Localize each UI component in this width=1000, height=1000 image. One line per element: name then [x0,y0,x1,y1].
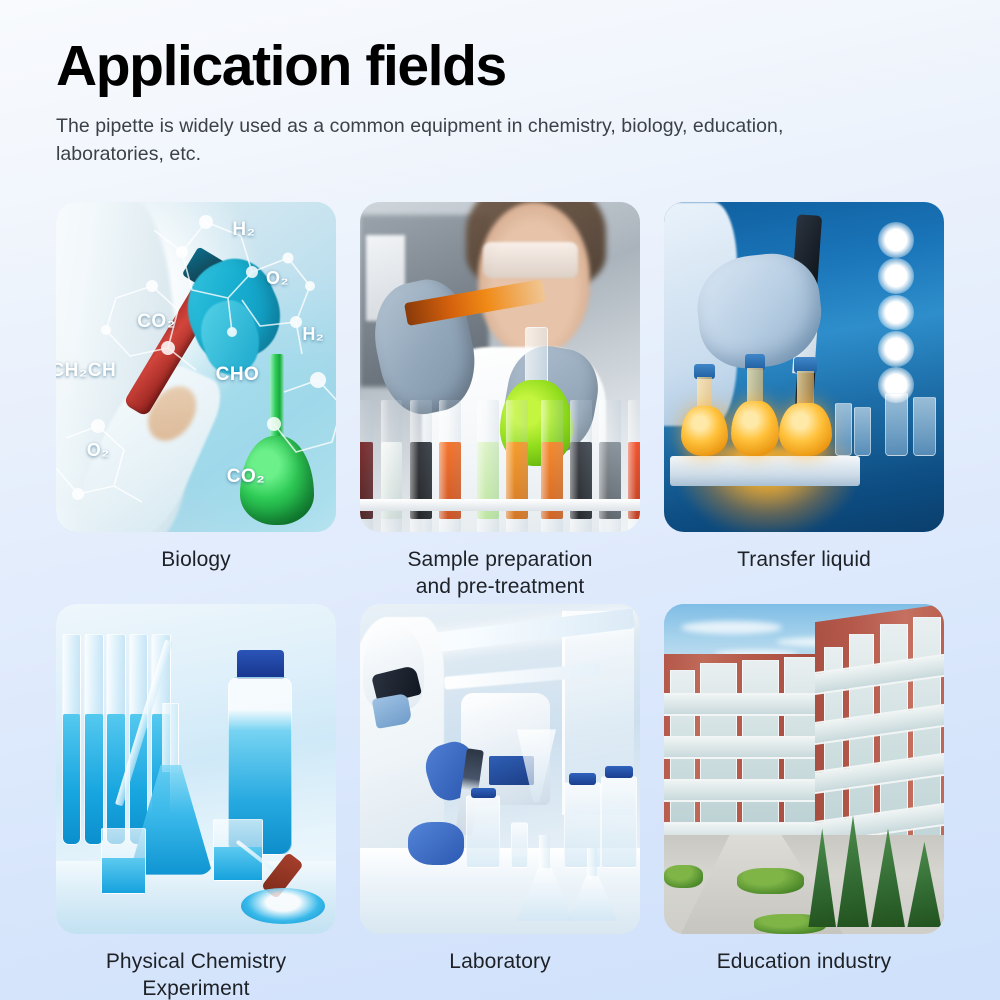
conical-flask-icon [517,835,573,921]
caption-line-1: Physical Chemistry [106,950,286,973]
test-tube-rack [360,400,640,532]
overlay-label-cho: CHO [216,364,260,386]
gallery-card-education-industry[interactable]: Education industry [664,604,944,1000]
caption-physical-chemistry-experiment: Physical Chemistry Experiment [56,949,336,1000]
sample-preparation-image[interactable] [360,202,640,532]
amber-flask-icon [681,364,729,456]
overlay-label-ch2ch: CH₂CH [56,360,116,382]
petri-dish-icon [241,888,325,924]
amber-flask-icon [731,354,779,456]
hedge-icon [737,868,804,894]
caption-biology: Biology [56,547,336,574]
gallery-card-physical-chemistry-experiment[interactable]: Physical Chemistry Experiment [56,604,336,1000]
page-header: Application fields The pipette is widely… [0,0,1000,169]
transfer-liquid-image[interactable] [664,202,944,532]
gallery-row-1: H₂ O₂ CO₂ CHO CH₂CH H₂ O₂ CO₂ Biology [56,202,944,601]
reagent-bottle-icon [466,795,500,868]
light-panel-icon [866,222,928,413]
gallery-card-biology[interactable]: H₂ O₂ CO₂ CHO CH₂CH H₂ O₂ CO₂ Biology [56,202,336,601]
amber-flask-icon [779,357,832,456]
overlay-label-o2-top: O₂ [266,268,289,289]
gallery-row-2: Physical Chemistry Experiment [56,604,944,1000]
biology-image[interactable]: H₂ O₂ CO₂ CHO CH₂CH H₂ O₂ CO₂ [56,202,336,532]
conical-flask-icon [567,848,617,921]
page-subtitle: The pipette is widely used as a common e… [56,113,886,168]
gallery-card-transfer-liquid[interactable]: Transfer liquid [664,202,944,601]
caption-line-1: Sample preparation [407,548,592,571]
overlay-label-co2-mid: CO₂ [137,311,175,333]
gallery-card-sample-preparation[interactable]: Sample preparation and pre-treatment [360,202,640,601]
caption-education-industry: Education industry [664,949,944,976]
caption-transfer-liquid: Transfer liquid [664,547,944,574]
laboratory-image[interactable] [360,604,640,934]
caption-sample-preparation: Sample preparation and pre-treatment [360,547,640,601]
hedge-icon [664,865,703,888]
application-fields-page: Application fields The pipette is widely… [0,0,1000,1000]
physical-chemistry-experiment-image[interactable] [56,604,336,934]
caption-laboratory: Laboratory [360,949,640,976]
caption-line-2: and pre-treatment [416,575,585,598]
overlay-label-co2-bottom: CO₂ [227,466,265,488]
overlay-label-o2-bottom: O₂ [87,440,110,461]
overlay-label-h2-top: H₂ [232,219,255,241]
gallery-card-laboratory[interactable]: Laboratory [360,604,640,1000]
page-title: Application fields [56,36,944,96]
overlay-label-h2-right: H₂ [302,324,324,345]
education-industry-image[interactable] [664,604,944,934]
caption-line-2: Experiment [142,977,249,1000]
